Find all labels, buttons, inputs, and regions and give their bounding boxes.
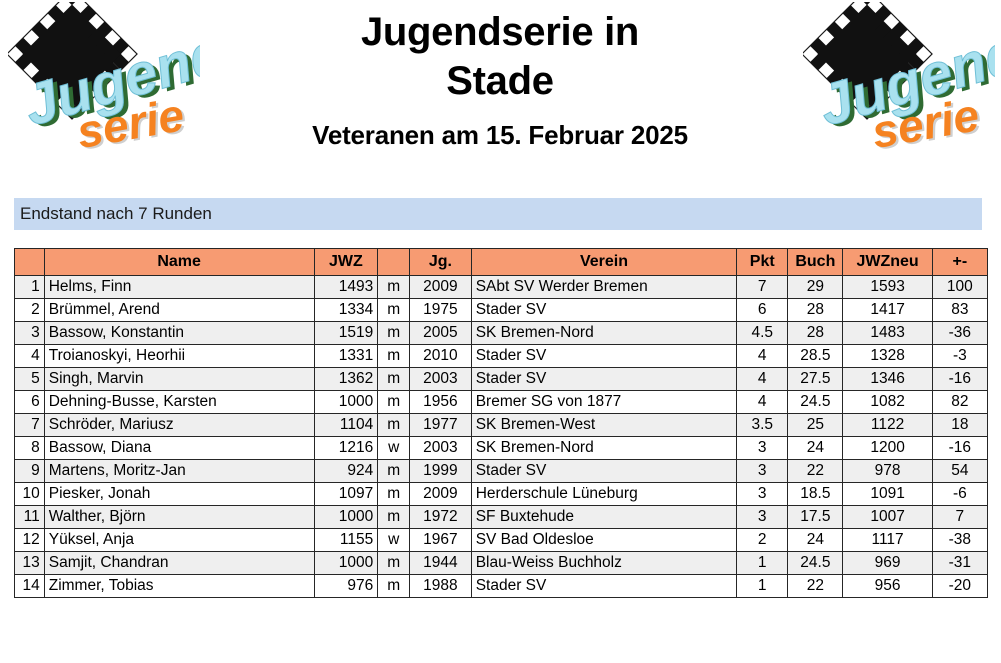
cell-jwz: 1493 — [314, 276, 378, 299]
cell-jwz: 924 — [314, 460, 378, 483]
cell-buch: 17.5 — [788, 506, 843, 529]
cell-jwzneu: 1483 — [843, 322, 932, 345]
cell-verein: Stader SV — [471, 575, 737, 598]
cell-jwz: 1331 — [314, 345, 378, 368]
cell-rank: 1 — [15, 276, 45, 299]
cell-pkt: 6 — [737, 299, 788, 322]
cell-name: Brümmel, Arend — [44, 299, 314, 322]
cell-diff: 7 — [932, 506, 987, 529]
table-row: 8Bassow, Diana1216w2003SK Bremen-Nord324… — [15, 437, 988, 460]
cell-name: Helms, Finn — [44, 276, 314, 299]
cell-jg: 1975 — [410, 299, 472, 322]
cell-rank: 14 — [15, 575, 45, 598]
cell-pkt: 4 — [737, 391, 788, 414]
cell-jg: 1977 — [410, 414, 472, 437]
cell-buch: 28.5 — [788, 345, 843, 368]
cell-buch: 24 — [788, 437, 843, 460]
cell-buch: 22 — [788, 575, 843, 598]
cell-jwzneu: 1082 — [843, 391, 932, 414]
cell-jwzneu: 1122 — [843, 414, 932, 437]
cell-jwzneu: 1117 — [843, 529, 932, 552]
cell-jwzneu: 956 — [843, 575, 932, 598]
jugendserie-logo-right: Jugend Jugend serie serie — [803, 2, 995, 168]
jugendserie-logo-icon: Jugend Jugend serie serie — [8, 2, 200, 168]
cell-jg: 2003 — [410, 368, 472, 391]
cell-jg: 1944 — [410, 552, 472, 575]
cell-jwzneu: 978 — [843, 460, 932, 483]
cell-sex: m — [378, 575, 410, 598]
cell-name: Piesker, Jonah — [44, 483, 314, 506]
cell-diff: -38 — [932, 529, 987, 552]
page-subtitle: Veteranen am 15. Februar 2025 — [210, 120, 790, 151]
page-title-line1: Jugendserie in — [210, 8, 790, 57]
cell-diff: -6 — [932, 483, 987, 506]
cell-jg: 1999 — [410, 460, 472, 483]
table-row: 14Zimmer, Tobias976m1988Stader SV122956-… — [15, 575, 988, 598]
col-header-pkt: Pkt — [737, 249, 788, 276]
cell-rank: 8 — [15, 437, 45, 460]
cell-jwz: 1000 — [314, 391, 378, 414]
col-header-sex — [378, 249, 410, 276]
cell-diff: 83 — [932, 299, 987, 322]
cell-jwz: 1000 — [314, 506, 378, 529]
cell-jwzneu: 1091 — [843, 483, 932, 506]
col-header-jg: Jg. — [410, 249, 472, 276]
cell-rank: 4 — [15, 345, 45, 368]
cell-jwzneu: 1200 — [843, 437, 932, 460]
cell-jwz: 1519 — [314, 322, 378, 345]
col-header-rank — [15, 249, 45, 276]
cell-name: Troianoskyi, Heorhii — [44, 345, 314, 368]
cell-verein: SK Bremen-Nord — [471, 322, 737, 345]
cell-jg: 1972 — [410, 506, 472, 529]
cell-pkt: 3 — [737, 483, 788, 506]
cell-sex: m — [378, 414, 410, 437]
col-header-buch: Buch — [788, 249, 843, 276]
cell-jg: 2010 — [410, 345, 472, 368]
cell-sex: w — [378, 529, 410, 552]
cell-verein: SV Bad Oldesloe — [471, 529, 737, 552]
cell-pkt: 7 — [737, 276, 788, 299]
table-row: 7Schröder, Mariusz1104m1977SK Bremen-Wes… — [15, 414, 988, 437]
cell-diff: -3 — [932, 345, 987, 368]
table-header-row: Name JWZ Jg. Verein Pkt Buch JWZneu +- — [15, 249, 988, 276]
cell-sex: m — [378, 322, 410, 345]
cell-diff: -31 — [932, 552, 987, 575]
cell-pkt: 1 — [737, 575, 788, 598]
cell-sex: m — [378, 345, 410, 368]
page-title-line2: Stade — [210, 57, 790, 106]
cell-verein: SAbt SV Werder Bremen — [471, 276, 737, 299]
cell-diff: 82 — [932, 391, 987, 414]
cell-diff: -16 — [932, 437, 987, 460]
cell-buch: 24.5 — [788, 552, 843, 575]
cell-jwz: 1334 — [314, 299, 378, 322]
cell-sex: m — [378, 299, 410, 322]
cell-sex: m — [378, 506, 410, 529]
cell-rank: 9 — [15, 460, 45, 483]
cell-name: Walther, Björn — [44, 506, 314, 529]
jugendserie-logo-icon: Jugend Jugend serie serie — [803, 2, 995, 168]
col-header-diff: +- — [932, 249, 987, 276]
cell-jg: 1956 — [410, 391, 472, 414]
cell-jg: 1988 — [410, 575, 472, 598]
page-title-block: Jugendserie in Stade Veteranen am 15. Fe… — [210, 8, 790, 151]
table-row: 5Singh, Marvin1362m2003Stader SV427.5134… — [15, 368, 988, 391]
table-row: 2Brümmel, Arend1334m1975Stader SV6281417… — [15, 299, 988, 322]
cell-jwz: 976 — [314, 575, 378, 598]
cell-jwz: 1104 — [314, 414, 378, 437]
jugendserie-logo-left: Jugend Jugend serie serie — [8, 2, 200, 168]
cell-jwzneu: 1346 — [843, 368, 932, 391]
cell-verein: SK Bremen-Nord — [471, 437, 737, 460]
cell-sex: w — [378, 437, 410, 460]
cell-name: Singh, Marvin — [44, 368, 314, 391]
cell-jwz: 1097 — [314, 483, 378, 506]
cell-verein: Stader SV — [471, 345, 737, 368]
cell-rank: 13 — [15, 552, 45, 575]
standings-banner-label: Endstand nach 7 Runden — [20, 204, 212, 224]
table-row: 10Piesker, Jonah1097m2009Herderschule Lü… — [15, 483, 988, 506]
standings-table: Name JWZ Jg. Verein Pkt Buch JWZneu +- 1… — [14, 248, 988, 598]
cell-verein: Stader SV — [471, 460, 737, 483]
standings-banner: Endstand nach 7 Runden — [14, 198, 982, 230]
cell-verein: Blau-Weiss Buchholz — [471, 552, 737, 575]
cell-diff: 100 — [932, 276, 987, 299]
cell-buch: 28 — [788, 299, 843, 322]
col-header-jwzneu: JWZneu — [843, 249, 932, 276]
cell-buch: 18.5 — [788, 483, 843, 506]
table-row: 13Samjit, Chandran1000m1944Blau-Weiss Bu… — [15, 552, 988, 575]
cell-jg: 2009 — [410, 276, 472, 299]
cell-diff: -16 — [932, 368, 987, 391]
cell-sex: m — [378, 391, 410, 414]
cell-pkt: 4 — [737, 368, 788, 391]
cell-rank: 2 — [15, 299, 45, 322]
standings-table-wrap: Name JWZ Jg. Verein Pkt Buch JWZneu +- 1… — [14, 248, 988, 598]
table-row: 11Walther, Björn1000m1972SF Buxtehude317… — [15, 506, 988, 529]
cell-rank: 6 — [15, 391, 45, 414]
cell-name: Bassow, Konstantin — [44, 322, 314, 345]
cell-pkt: 3 — [737, 437, 788, 460]
cell-name: Bassow, Diana — [44, 437, 314, 460]
cell-verein: SF Buxtehude — [471, 506, 737, 529]
cell-jg: 2005 — [410, 322, 472, 345]
table-row: 4Troianoskyi, Heorhii1331m2010Stader SV4… — [15, 345, 988, 368]
cell-sex: m — [378, 276, 410, 299]
cell-jwzneu: 969 — [843, 552, 932, 575]
cell-buch: 24.5 — [788, 391, 843, 414]
cell-sex: m — [378, 460, 410, 483]
cell-name: Dehning-Busse, Karsten — [44, 391, 314, 414]
cell-verein: SK Bremen-West — [471, 414, 737, 437]
cell-name: Samjit, Chandran — [44, 552, 314, 575]
page-header: Jugend Jugend serie serie Jugendserie in… — [0, 0, 1001, 186]
cell-rank: 12 — [15, 529, 45, 552]
cell-diff: -20 — [932, 575, 987, 598]
cell-rank: 11 — [15, 506, 45, 529]
cell-sex: m — [378, 368, 410, 391]
cell-buch: 25 — [788, 414, 843, 437]
cell-jwzneu: 1593 — [843, 276, 932, 299]
cell-verein: Bremer SG von 1877 — [471, 391, 737, 414]
table-row: 9Martens, Moritz-Jan924m1999Stader SV322… — [15, 460, 988, 483]
cell-rank: 7 — [15, 414, 45, 437]
cell-verein: Stader SV — [471, 299, 737, 322]
cell-pkt: 1 — [737, 552, 788, 575]
cell-buch: 24 — [788, 529, 843, 552]
cell-pkt: 2 — [737, 529, 788, 552]
cell-jwz: 1155 — [314, 529, 378, 552]
cell-sex: m — [378, 552, 410, 575]
col-header-jwz: JWZ — [314, 249, 378, 276]
cell-jwz: 1216 — [314, 437, 378, 460]
table-row: 3Bassow, Konstantin1519m2005SK Bremen-No… — [15, 322, 988, 345]
cell-pkt: 4.5 — [737, 322, 788, 345]
cell-name: Martens, Moritz-Jan — [44, 460, 314, 483]
cell-rank: 3 — [15, 322, 45, 345]
cell-sex: m — [378, 483, 410, 506]
cell-buch: 27.5 — [788, 368, 843, 391]
cell-name: Zimmer, Tobias — [44, 575, 314, 598]
cell-jg: 1967 — [410, 529, 472, 552]
table-row: 6Dehning-Busse, Karsten1000m1956Bremer S… — [15, 391, 988, 414]
cell-jg: 2003 — [410, 437, 472, 460]
cell-rank: 10 — [15, 483, 45, 506]
cell-diff: 18 — [932, 414, 987, 437]
table-row: 1Helms, Finn1493m2009SAbt SV Werder Brem… — [15, 276, 988, 299]
cell-verein: Stader SV — [471, 368, 737, 391]
cell-buch: 22 — [788, 460, 843, 483]
cell-jwzneu: 1007 — [843, 506, 932, 529]
cell-diff: 54 — [932, 460, 987, 483]
cell-pkt: 3 — [737, 460, 788, 483]
cell-jwz: 1000 — [314, 552, 378, 575]
cell-jwzneu: 1328 — [843, 345, 932, 368]
cell-verein: Herderschule Lüneburg — [471, 483, 737, 506]
cell-jwz: 1362 — [314, 368, 378, 391]
cell-diff: -36 — [932, 322, 987, 345]
cell-name: Schröder, Mariusz — [44, 414, 314, 437]
cell-name: Yüksel, Anja — [44, 529, 314, 552]
cell-pkt: 3 — [737, 506, 788, 529]
cell-buch: 28 — [788, 322, 843, 345]
cell-jwzneu: 1417 — [843, 299, 932, 322]
cell-rank: 5 — [15, 368, 45, 391]
col-header-name: Name — [44, 249, 314, 276]
cell-pkt: 4 — [737, 345, 788, 368]
cell-pkt: 3.5 — [737, 414, 788, 437]
col-header-verein: Verein — [471, 249, 737, 276]
cell-jg: 2009 — [410, 483, 472, 506]
table-row: 12Yüksel, Anja1155w1967SV Bad Oldesloe22… — [15, 529, 988, 552]
cell-buch: 29 — [788, 276, 843, 299]
standings-table-body: 1Helms, Finn1493m2009SAbt SV Werder Brem… — [15, 276, 988, 598]
